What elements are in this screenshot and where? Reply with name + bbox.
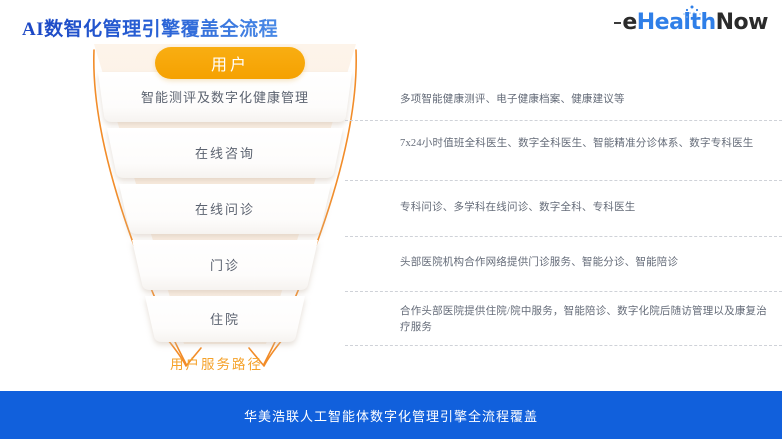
funnel-stage-4[interactable]: 门诊 <box>132 240 318 290</box>
stage-description-5: 合作头部医院提供住院/院中服务，智能陪诊、数字化院后随访管理以及康复治疗服务 <box>400 304 772 336</box>
funnel-stage-5[interactable]: 住院 <box>145 296 305 342</box>
description-divider-5 <box>345 345 782 346</box>
description-divider-1 <box>345 120 782 121</box>
description-divider-4 <box>345 291 782 292</box>
logo-dash-icon <box>614 22 621 25</box>
sparkle-icon <box>680 5 704 19</box>
funnel-stage-5-label: 住院 <box>210 312 240 327</box>
user-service-path-label: 用户服务路径 <box>170 353 263 373</box>
funnel-stage-2[interactable]: 在线咨询 <box>107 128 343 178</box>
logo-text-e: e <box>622 10 636 35</box>
funnel-stage-1-label: 智能测评及数字化健康管理 <box>141 90 309 105</box>
brand-logo: eHealthNow <box>614 8 768 36</box>
page-title: AI数智化管理引擎覆盖全流程 <box>22 14 278 41</box>
funnel-stage-1[interactable]: 智能测评及数字化健康管理 <box>98 72 352 122</box>
funnel-diagram: 智能测评及数字化健康管理 在线咨询 在线问诊 门诊 住院 <box>60 44 390 374</box>
description-divider-2 <box>345 180 782 181</box>
user-pill-label: 用户 <box>211 51 249 75</box>
logo-text-now: Now <box>716 10 768 35</box>
bottom-banner: 华美浩联人工智能体数字化管理引擎全流程覆盖 <box>0 391 782 439</box>
bottom-banner-text: 华美浩联人工智能体数字化管理引擎全流程覆盖 <box>244 406 538 425</box>
slide-canvas: AI数智化管理引擎覆盖全流程 eHealthNow <box>0 0 782 439</box>
funnel-stage-3[interactable]: 在线问诊 <box>119 184 331 234</box>
funnel-stage-4-label: 门诊 <box>210 258 240 273</box>
description-divider-3 <box>345 236 782 237</box>
funnel-stage-3-label: 在线问诊 <box>195 202 255 217</box>
stage-description-3: 专科问诊、多学科在线问诊、数字全科、专科医生 <box>400 200 772 216</box>
stage-description-2: 7x24小时值班全科医生、数字全科医生、智能精准分诊体系、数字专科医生 <box>400 136 772 152</box>
funnel-stage-2-label: 在线咨询 <box>195 146 255 161</box>
stage-description-1: 多项智能健康测评、电子健康档案、健康建议等 <box>400 92 772 108</box>
user-pill-badge[interactable]: 用户 <box>155 47 305 79</box>
stage-description-4: 头部医院机构合作网络提供门诊服务、智能分诊、智能陪诊 <box>400 255 772 271</box>
